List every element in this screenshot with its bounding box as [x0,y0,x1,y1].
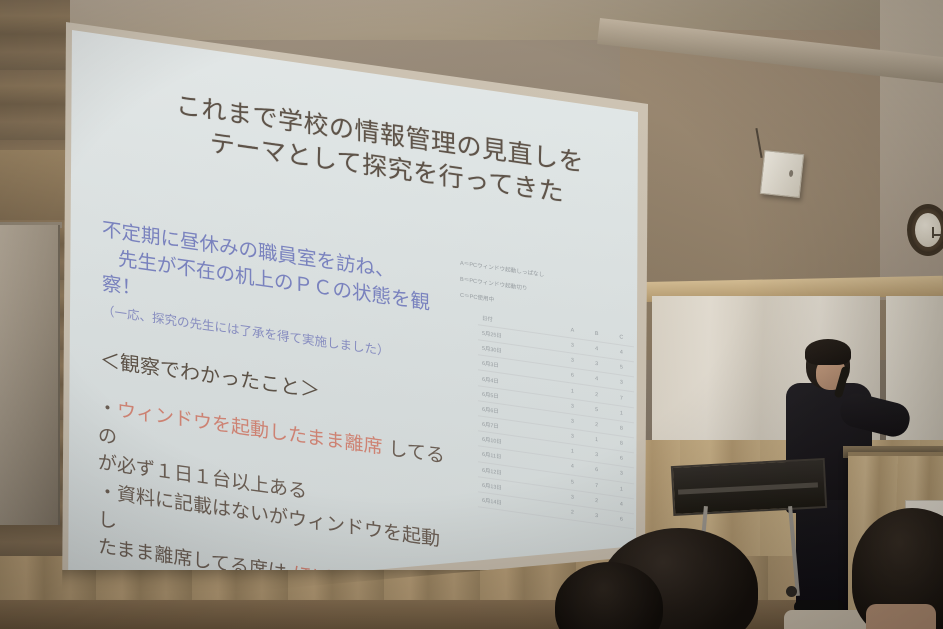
slide-table-body: 5月25日3445月30日3356月3日6436月4日1276月5日3516月6… [478,325,634,529]
slide-data-table-block: A＝PCウィンドウ起動しっぱなしB＝PCウィンドウ起動切りC＝PC使用中 日付A… [460,256,640,531]
slide-blue-paragraph: 不定期に昼休みの職員室を訪ね、 先生が不在の机上のＰＣの状態を観 察！ （一応、… [102,217,442,367]
clock-hand-minute [932,227,934,238]
blue-line-3: 察！ [102,272,141,301]
bullet-1-mark: ・ [98,396,117,421]
caster-wheel-right [786,586,797,597]
wall-clock-icon [907,204,943,256]
wall-speaker-icon [760,150,804,198]
speaker-indicator-icon [789,170,794,177]
table-cell: 2 [560,503,584,522]
table-cell: 3 [585,507,609,526]
slide-data-table: 日付ABC 5月25日3445月30日3356月3日6436月4日1276月5日… [478,310,634,530]
presenter-hair [805,339,851,365]
left-door [0,225,60,525]
bullet-2-mark: ・ [98,480,117,505]
presentation-room-photo: これまで学校の情報管理の見直しを テーマとして探究を行ってきた 不定期に昼休みの… [0,0,943,629]
audience-neck-right [866,604,936,629]
left-wood-band [0,150,66,220]
clock-face [915,213,941,247]
slide-title: これまで学校の情報管理の見直しを テーマとして探究を行ってきた [160,87,600,214]
bullet-1-highlight: ウィンドウを起動したまま離席 [117,399,382,459]
bullet-2-pre: たまま離席してる席は [98,535,293,570]
clock-hand-hour [933,234,942,236]
table-cell: 6 [609,510,634,529]
